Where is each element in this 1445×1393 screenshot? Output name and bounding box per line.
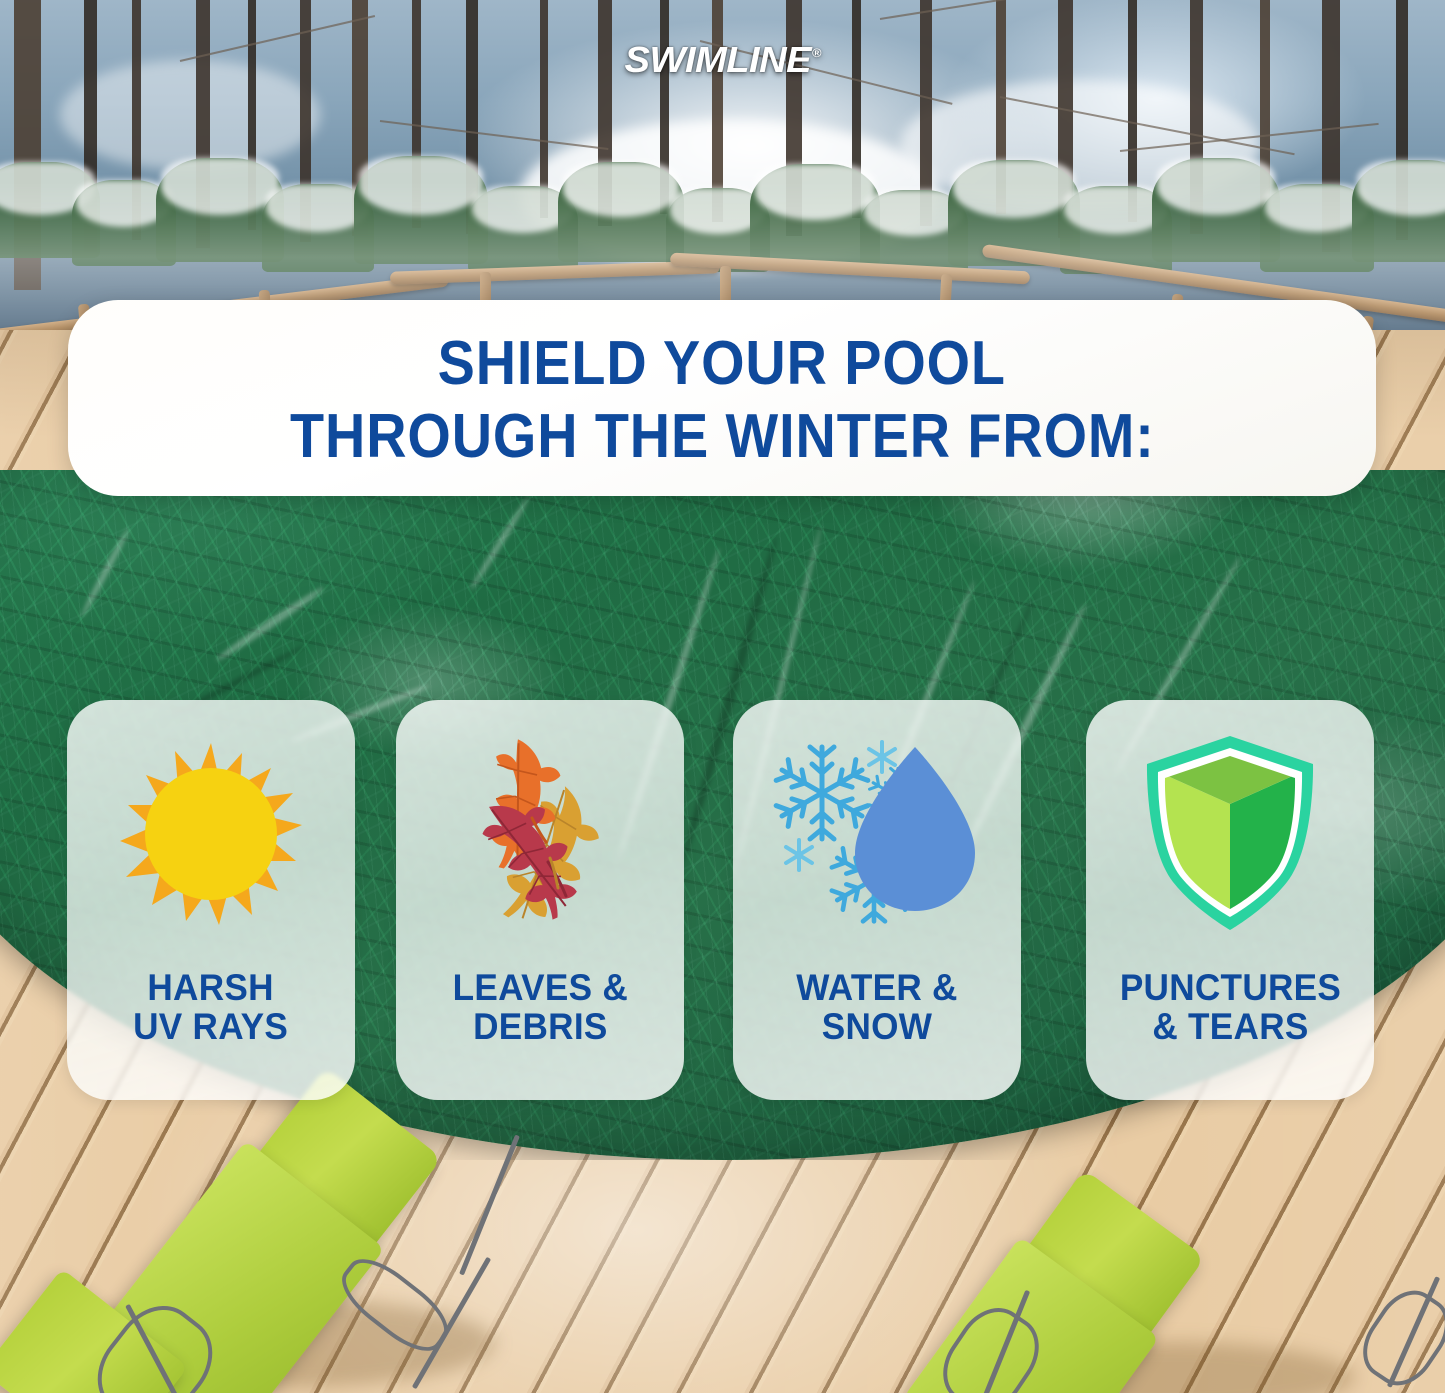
snowy-shrubs <box>0 128 1445 278</box>
lounge-chair-right <box>935 1212 1445 1393</box>
lounge-chair-left <box>35 1108 555 1393</box>
headline-line-2: THROUGH THE WINTER FROM: <box>290 406 1155 468</box>
card-label: PUNCTURES & TEARS <box>1119 968 1340 1046</box>
feature-card-water-snow[interactable]: WATER & SNOW <box>733 700 1021 1100</box>
feature-card-punctures-tears[interactable]: PUNCTURES & TEARS <box>1086 700 1374 1100</box>
feature-card-leaves-debris[interactable]: LEAVES & DEBRIS <box>396 700 684 1100</box>
leaves-icon <box>440 734 640 934</box>
card-label: HARSH UV RAYS <box>133 968 288 1046</box>
swimline-logo: SWIMLINE® <box>0 42 1445 78</box>
icon-slot <box>67 700 355 968</box>
card-label-line-2: DEBRIS <box>452 1007 627 1046</box>
sun-core <box>145 768 277 900</box>
snowflake-large-1 <box>776 747 868 839</box>
card-label-line-2: SNOW <box>796 1007 957 1046</box>
card-label-line-2: & TEARS <box>1119 1007 1340 1046</box>
logo-text: SWIMLINE <box>625 39 812 80</box>
card-label-line-1: HARSH <box>148 967 274 1008</box>
card-label-line-1: PUNCTURES <box>1119 967 1340 1008</box>
headline-line-1: SHIELD YOUR POOL <box>438 333 1006 395</box>
feature-card-harsh-uv-rays[interactable]: HARSH UV RAYS <box>67 700 355 1100</box>
feature-card-row: HARSH UV RAYS <box>0 700 1445 1100</box>
card-label-line-1: WATER & <box>796 967 957 1008</box>
card-label: LEAVES & DEBRIS <box>452 968 627 1046</box>
registered-trademark-icon: ® <box>812 47 821 59</box>
icon-slot <box>1086 700 1374 968</box>
headline-banner: SHIELD YOUR POOL THROUGH THE WINTER FROM… <box>68 300 1376 496</box>
card-label-line-1: LEAVES & <box>452 967 627 1008</box>
card-label: WATER & SNOW <box>796 968 957 1046</box>
shield-icon <box>1141 734 1319 934</box>
icon-slot <box>733 700 1021 968</box>
icon-slot <box>396 700 684 968</box>
water-droplet <box>855 747 975 911</box>
card-label-line-2: UV RAYS <box>133 1007 288 1046</box>
snowflake-droplet-icon <box>770 739 985 929</box>
snowflake-small-2 <box>786 840 812 870</box>
chair-frame <box>459 1135 520 1276</box>
promo-image: SWIMLINE® SHIELD YOUR POOL THROUGH THE W… <box>0 0 1445 1393</box>
sun-icon <box>118 741 304 927</box>
